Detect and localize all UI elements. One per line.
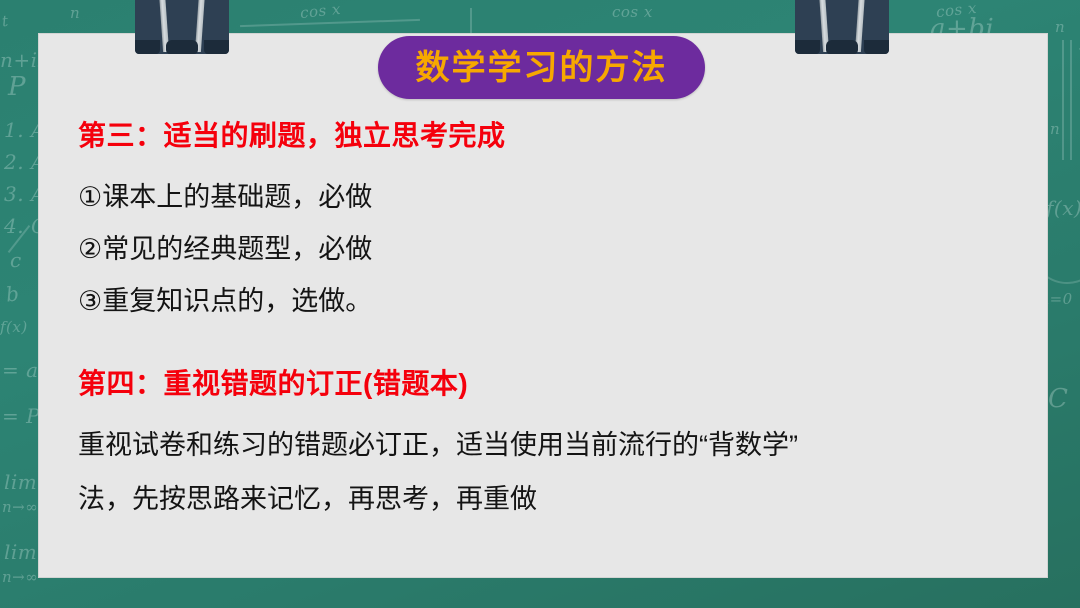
chalk-stroke [240, 19, 420, 27]
chalk-mark: f(x) [0, 318, 28, 336]
chalk-mark: b [5, 281, 21, 306]
section-heading-fourth: 第四：重视错题的订正(错题本) [78, 370, 468, 398]
chalk-mark: lim [4, 540, 37, 564]
chalk-stroke [1070, 40, 1072, 160]
slide-title-pill: 数学学习的方法 [378, 36, 705, 99]
slide-root: t n+is P 1. A 2. A 3. A 4. C c b f(x) = … [0, 0, 1080, 608]
chalk-mark: cos x [299, 0, 342, 22]
clip-foot [166, 40, 198, 54]
chalk-mark: lim [4, 470, 37, 494]
paragraph-line: 法，先按思路来记忆，再思考，再重做 [78, 486, 537, 513]
chalk-mark: C [1048, 384, 1068, 414]
binder-clip-left-icon [135, 0, 229, 62]
clip-foot [826, 40, 858, 54]
clip-foot [864, 40, 889, 54]
chalk-mark: n→∞ [2, 568, 38, 586]
paragraph-line: 重视试卷和练习的错题必订正，适当使用当前流行的“背数学” [78, 432, 798, 459]
page-title: 数学学习的方法 [416, 51, 668, 85]
list-item: ③重复知识点的，选做。 [78, 288, 372, 315]
list-item: ②常见的经典题型，必做 [78, 236, 372, 263]
clip-foot [135, 40, 160, 54]
list-item: ①课本上的基础题，必做 [78, 184, 372, 211]
chalk-mark: cos x [612, 3, 653, 21]
chalk-mark: c [10, 248, 22, 272]
chalk-mark: n→∞ [2, 498, 38, 516]
chalk-mark: = P [2, 404, 40, 428]
clip-foot [204, 40, 229, 54]
chalk-mark: t [1, 12, 9, 31]
binder-clip-right-icon [795, 0, 889, 62]
chalk-stroke [470, 8, 472, 34]
chalk-mark: P [8, 72, 26, 102]
clip-foot [795, 40, 820, 54]
section-heading-third: 第三：适当的刷题，独立思考完成 [78, 122, 506, 150]
chalk-mark: = a [2, 358, 39, 382]
chalk-mark: n [1050, 120, 1060, 138]
chalk-mark: n [70, 4, 80, 22]
